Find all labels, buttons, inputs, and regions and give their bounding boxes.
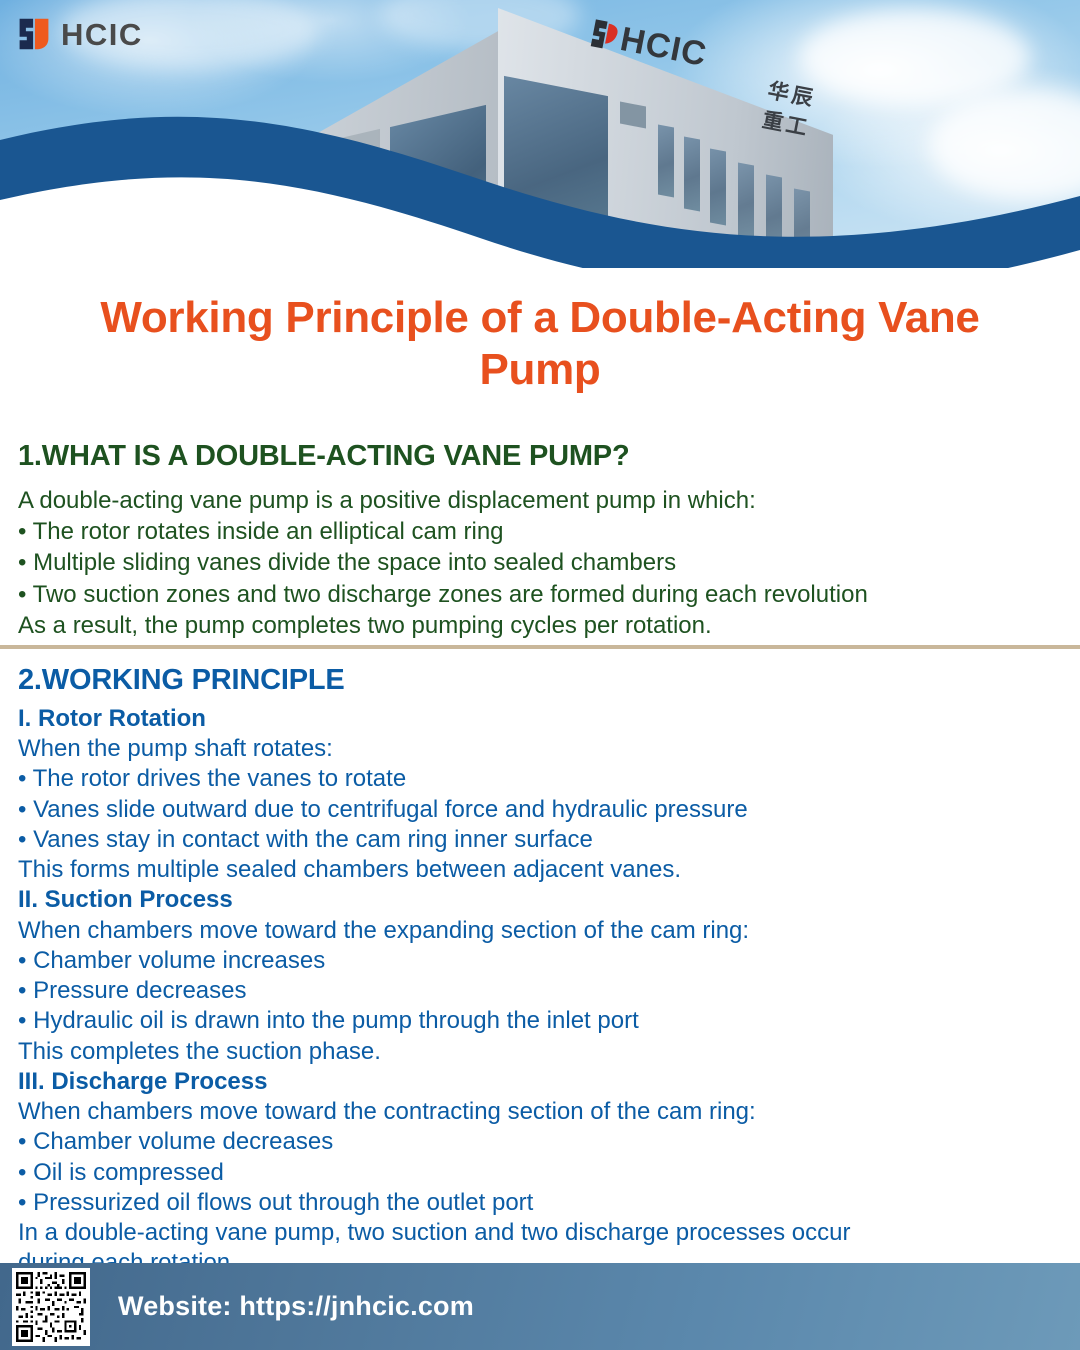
- subheading-suction-process: II. Suction Process: [18, 885, 1068, 915]
- block-line: • Pressure decreases: [18, 976, 1068, 1006]
- section1-line: • Multiple sliding vanes divide the spac…: [18, 547, 1068, 578]
- block-line: When the pump shaft rotates:: [18, 734, 1068, 764]
- poster-page: HCIC 华辰重工 HCIC Working Principle of a Do…: [0, 0, 1080, 1350]
- hcic-logo-mark-icon: [16, 16, 52, 52]
- subheading-discharge-process: III. Discharge Process: [18, 1067, 1068, 1097]
- block-discharge-process: III. Discharge Process When chambers mov…: [18, 1067, 1068, 1279]
- block-line: This completes the suction phase.: [18, 1037, 1068, 1067]
- section-working-principle: 2.WORKING PRINCIPLE I. Rotor Rotation Wh…: [18, 664, 1068, 1278]
- block-line: When chambers move toward the expanding …: [18, 916, 1068, 946]
- qr-code-svg: [16, 1272, 86, 1342]
- section-what-is: 1.WHAT IS A DOUBLE-ACTING VANE PUMP? A d…: [18, 440, 1068, 641]
- section2-heading: 2.WORKING PRINCIPLE: [18, 664, 1068, 697]
- block-line: • Vanes slide outward due to centrifugal…: [18, 795, 1068, 825]
- qr-code-icon[interactable]: [12, 1268, 90, 1346]
- block-line: • Oil is compressed: [18, 1158, 1068, 1188]
- block-rotor-rotation: I. Rotor Rotation When the pump shaft ro…: [18, 704, 1068, 885]
- block-line: • The rotor drives the vanes to rotate: [18, 764, 1068, 794]
- section1-line: A double-acting vane pump is a positive …: [18, 485, 1068, 516]
- section1-line: As a result, the pump completes two pump…: [18, 610, 1068, 641]
- website-label[interactable]: Website: https://jnhcic.com: [118, 1291, 474, 1322]
- section1-line: • Two suction zones and two discharge zo…: [18, 579, 1068, 610]
- page-title: Working Principle of a Double-Acting Van…: [45, 292, 1035, 396]
- section1-body: A double-acting vane pump is a positive …: [18, 485, 1068, 641]
- block-suction-process: II. Suction Process When chambers move t…: [18, 885, 1068, 1066]
- section1-line: • The rotor rotates inside an elliptical…: [18, 516, 1068, 547]
- block-line: • Vanes stay in contact with the cam rin…: [18, 825, 1068, 855]
- section-divider: [0, 645, 1080, 649]
- block-line: When chambers move toward the contractin…: [18, 1097, 1068, 1127]
- block-line: • Chamber volume decreases: [18, 1127, 1068, 1157]
- subheading-rotor-rotation: I. Rotor Rotation: [18, 704, 1068, 734]
- header-banner: HCIC 华辰重工 HCIC: [0, 0, 1080, 268]
- block-line: This forms multiple sealed chambers betw…: [18, 855, 1068, 885]
- block-line: • Hydraulic oil is drawn into the pump t…: [18, 1006, 1068, 1036]
- logo-text: HCIC: [61, 19, 143, 50]
- brand-logo[interactable]: HCIC: [16, 16, 143, 52]
- block-line: In a double-acting vane pump, two suctio…: [18, 1218, 1068, 1248]
- block-line: • Chamber volume increases: [18, 946, 1068, 976]
- block-line: • Pressurized oil flows out through the …: [18, 1188, 1068, 1218]
- section1-heading: 1.WHAT IS A DOUBLE-ACTING VANE PUMP?: [18, 440, 1068, 473]
- blue-wave-band: [0, 0, 1080, 268]
